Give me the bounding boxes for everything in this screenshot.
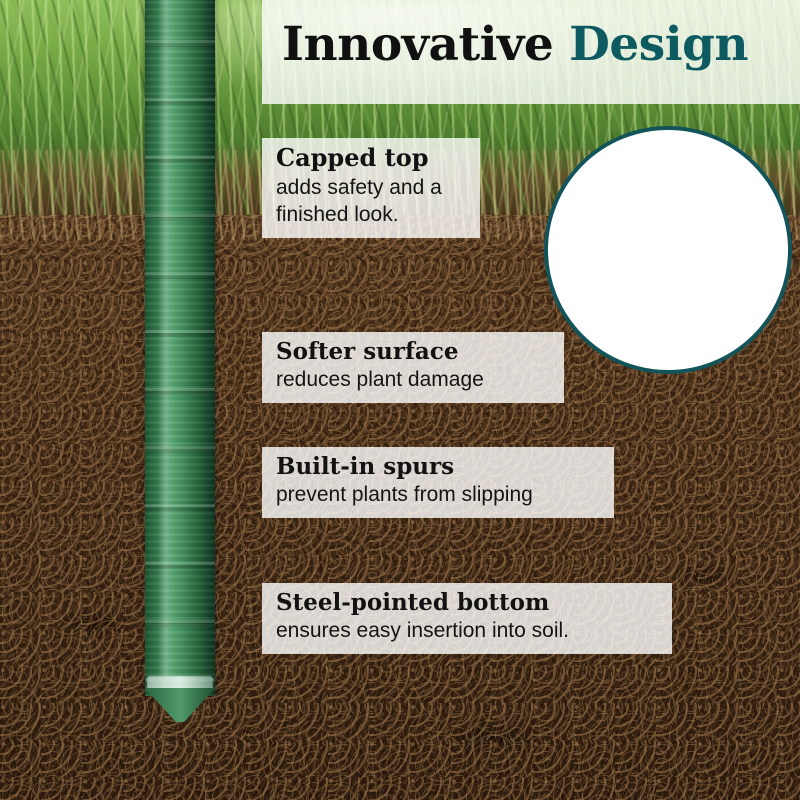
callout-steel-pointed-bottom-body: ensures easy insertion into soil. [276, 617, 658, 644]
title-panel: Innovative Design [262, 0, 800, 104]
callout-capped-top-heading: Capped top [276, 145, 466, 172]
callout-steel-pointed-bottom: Steel-pointed bottom ensures easy insert… [262, 583, 672, 654]
infographic-canvas: Innovative Design Capped top adds safety… [0, 0, 800, 800]
title-word-design: Design [569, 17, 748, 72]
callout-softer-surface: Softer surface reduces plant damage [262, 332, 564, 403]
callout-softer-surface-body: reduces plant damage [276, 366, 550, 393]
callout-built-in-spurs-heading: Built-in spurs [276, 454, 600, 480]
callout-steel-pointed-bottom-heading: Steel-pointed bottom [276, 590, 658, 616]
callout-capped-top: Capped top adds safety and a finished lo… [262, 138, 480, 238]
callout-softer-surface-heading: Softer surface [276, 339, 550, 365]
callout-capped-top-body: adds safety and a finished look. [276, 174, 466, 229]
callout-built-in-spurs-body: prevent plants from slipping [276, 481, 600, 508]
capped-top-detail-inset [544, 126, 792, 374]
inset-stake-shaft [638, 186, 698, 374]
callout-built-in-spurs: Built-in spurs prevent plants from slipp… [262, 447, 614, 518]
page-title: Innovative Design [262, 21, 748, 68]
garden-stake [145, 0, 215, 696]
title-word-innovative: Innovative [282, 17, 553, 72]
stake-spurs [145, 0, 215, 696]
